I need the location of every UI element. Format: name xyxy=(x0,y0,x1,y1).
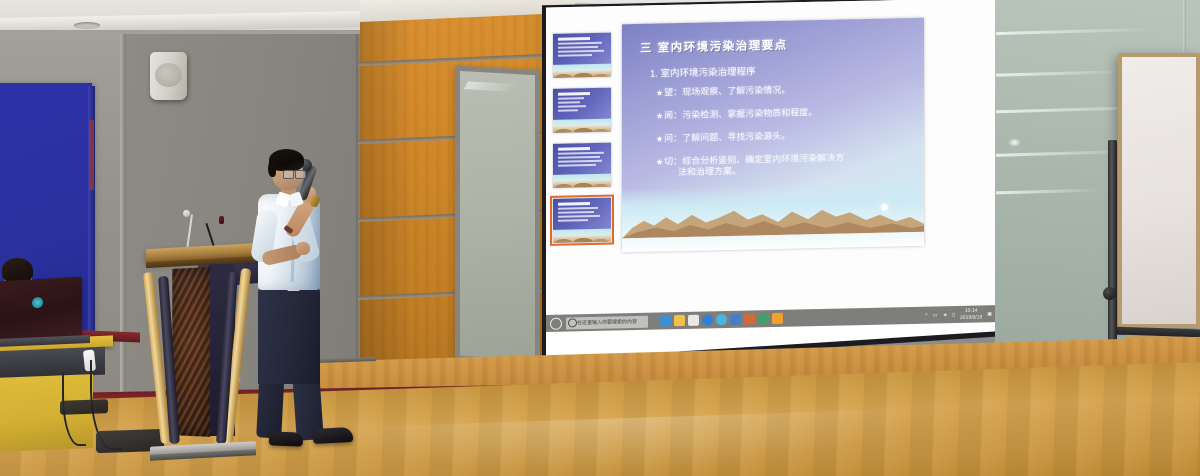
bullet-text: 了解问题、寻找污染源头。 xyxy=(682,131,790,143)
gray-framed-board xyxy=(455,66,540,366)
ceiling-light-icon xyxy=(74,22,100,29)
active-slide[interactable]: 三 室内环境污染治理要点 1. 室内环境污染治理程序 ★望：现场观察、了解污染情… xyxy=(622,18,924,253)
star-icon: ★ xyxy=(656,111,663,120)
presenter-glasses xyxy=(283,170,304,177)
board-sheen xyxy=(464,81,519,92)
slide-thumbnail[interactable] xyxy=(553,143,611,188)
presenter-trousers xyxy=(258,288,320,384)
search-icon xyxy=(568,318,577,327)
file-explorer-icon[interactable] xyxy=(674,315,685,326)
lectern-front-panel xyxy=(172,267,210,437)
presenter-hair-side xyxy=(268,160,276,177)
powerpoint-icon[interactable] xyxy=(744,313,755,324)
excel-icon[interactable] xyxy=(758,313,769,324)
slide-thumbnail[interactable] xyxy=(553,88,611,133)
system-tray[interactable]: ^ ▭ ◄ ▯ 10:14 2019/9/19 ▣ xyxy=(925,308,992,322)
slide-thumbnail-sidebar[interactable] xyxy=(548,33,614,282)
taskbar-search-input[interactable]: 在这里输入你要搜索的内容 xyxy=(566,315,648,329)
store-icon[interactable] xyxy=(688,315,699,326)
microphone-head-icon xyxy=(219,216,224,224)
taskbar-clock[interactable]: 10:14 2019/9/19 xyxy=(960,308,982,321)
slide-subtitle: 1. 室内环境污染治理程序 xyxy=(650,63,756,79)
presenter-shoe-left xyxy=(269,431,303,446)
glass-reflection-spot xyxy=(1008,138,1021,147)
projection-screen[interactable]: 三 室内环境污染治理要点 1. 室内环境污染治理程序 ★望：现场观察、了解污染情… xyxy=(546,0,996,362)
laptop-logo-icon xyxy=(32,297,43,309)
taskbar-app-icons[interactable] xyxy=(660,313,783,327)
microphone-head-icon xyxy=(183,210,190,217)
wall-speaker-icon xyxy=(150,52,187,100)
laptop-screen[interactable] xyxy=(0,277,82,343)
browser-icon[interactable] xyxy=(660,315,671,326)
presenter-shoe-right xyxy=(313,427,354,444)
star-icon: ★ xyxy=(656,157,663,166)
lecture-hall-scene: 三 室内环境污染治理要点 1. 室内环境污染治理程序 ★望：现场观察、了解污染情… xyxy=(0,0,1200,476)
operator-hair xyxy=(2,258,33,282)
speaker-grille xyxy=(155,63,182,87)
bullet-label: 闻： xyxy=(664,110,682,120)
slide-title: 三 室内环境污染治理要点 xyxy=(640,37,788,56)
slide-bullet: ★闻：污染检测、掌握污染物质和程度。 xyxy=(656,103,914,122)
powerpoint-window[interactable]: 三 室内环境污染治理要点 1. 室内环境污染治理程序 ★望：现场观察、了解污染情… xyxy=(546,0,996,324)
slide-bullet: ★问：了解问题、寻找污染源头。 xyxy=(656,126,914,145)
search-placeholder-text: 在这里输入你要搜索的内容 xyxy=(577,318,637,326)
bullet-label: 问： xyxy=(664,133,682,143)
bullet-label: 望： xyxy=(664,87,682,97)
chevron-up-icon[interactable]: ^ xyxy=(925,312,927,318)
volume-icon[interactable]: ◄ xyxy=(942,312,947,318)
wall-red-strip xyxy=(89,120,94,190)
whiteboard-adjust-knob[interactable] xyxy=(1103,287,1116,300)
notification-icon[interactable]: ▣ xyxy=(987,311,992,317)
star-icon: ★ xyxy=(656,134,663,143)
word-icon[interactable] xyxy=(730,314,741,325)
floor-equipment xyxy=(60,399,108,415)
mail-icon[interactable] xyxy=(702,314,713,325)
slide-background-art xyxy=(622,182,924,253)
bullet-text: 现场观察、了解污染情况。 xyxy=(682,85,790,97)
slide-bullet: ★望：现场观察、了解污染情况。 xyxy=(656,80,914,99)
media-icon[interactable] xyxy=(716,314,727,325)
slide-bullet-list: ★望：现场观察、了解污染情况。 ★闻：污染检测、掌握污染物质和程度。 ★问：了解… xyxy=(656,80,914,179)
whiteboard xyxy=(1118,53,1200,328)
network-icon[interactable]: ▭ xyxy=(933,312,938,318)
bullet-text: 污染检测、掌握污染物质和程度。 xyxy=(682,107,817,120)
star-icon: ★ xyxy=(656,88,663,97)
notes-icon[interactable] xyxy=(772,313,783,324)
slide-thumbnail-selected[interactable] xyxy=(553,198,611,243)
battery-icon[interactable]: ▯ xyxy=(952,312,955,318)
presenter-hand-left xyxy=(296,242,310,255)
start-button-icon[interactable] xyxy=(550,317,562,329)
clock-date: 2019/9/19 xyxy=(960,314,982,321)
slide-thumbnail[interactable] xyxy=(553,33,611,78)
